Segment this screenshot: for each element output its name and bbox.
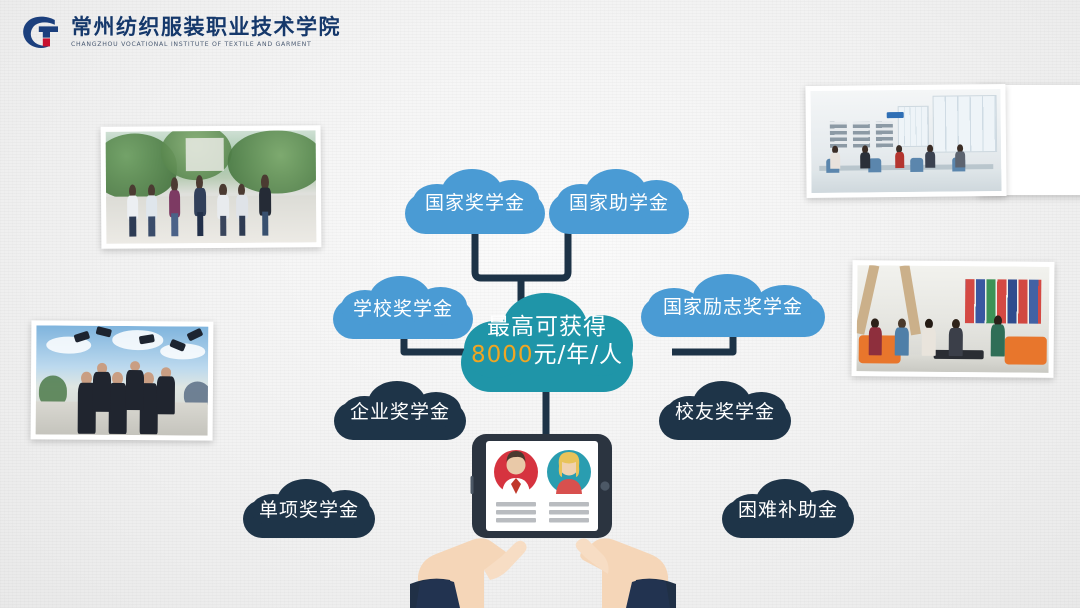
cloud-label: 校友奖学金 [675, 397, 775, 424]
cloud-label: 国家奖学金 [425, 188, 525, 215]
cloud-label: 国家励志奖学金 [663, 292, 803, 319]
slide-canvas: 常州纺织服装职业技术学院 CHANGZHOU VOCATIONAL INSTIT… [0, 0, 1080, 608]
right-hand [576, 538, 676, 608]
cloud-label: 企业奖学金 [350, 397, 450, 424]
cloud-node-single-item-scholarship[interactable]: 单项奖学金 [243, 478, 375, 538]
center-line-1: 最高可获得 [487, 314, 607, 340]
center-amount: 8000 [471, 342, 534, 368]
cloud-node-alumni-scholarship[interactable]: 校友奖学金 [659, 380, 791, 440]
left-hand [410, 538, 527, 608]
cloud-node-national-grant[interactable]: 国家助学金 [549, 168, 689, 234]
cloud-label: 国家助学金 [569, 188, 669, 215]
center-unit: 元/年/人 [534, 342, 624, 368]
cloud-label: 学校奖学金 [353, 294, 453, 321]
center-cloud-label: 最高可获得 8000元/年/人 [471, 314, 623, 368]
tablet-side-button[interactable] [471, 476, 474, 494]
tablet-illustration[interactable] [410, 424, 676, 608]
cloud-label: 困难补助金 [738, 495, 838, 522]
cloud-node-hardship-subsidy[interactable]: 困难补助金 [722, 478, 854, 538]
cloud-node-national-scholarship[interactable]: 国家奖学金 [405, 168, 545, 234]
cloud-label: 单项奖学金 [259, 495, 359, 522]
profile-right-avatar[interactable] [547, 450, 591, 494]
cloud-node-school-scholarship[interactable]: 学校奖学金 [333, 275, 473, 339]
tablet-home-button[interactable] [600, 481, 609, 490]
profile-left-avatar[interactable] [494, 450, 538, 494]
cloud-node-center-total[interactable]: 最高可获得 8000元/年/人 [461, 291, 633, 392]
cloud-node-national-inspirational-scholarship[interactable]: 国家励志奖学金 [641, 273, 825, 337]
